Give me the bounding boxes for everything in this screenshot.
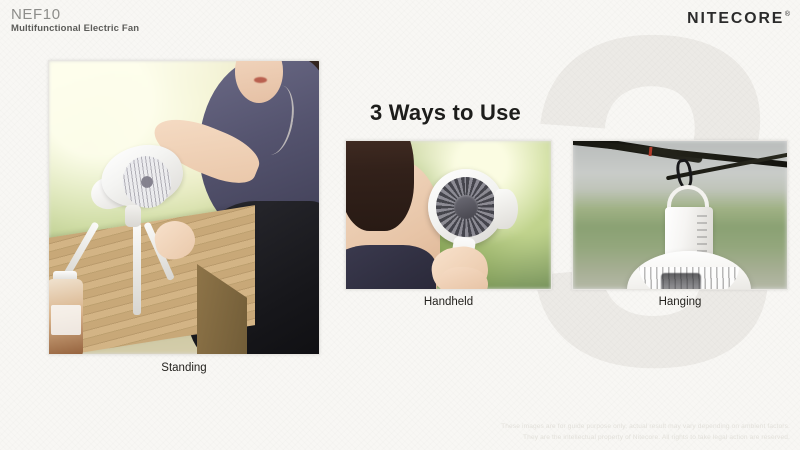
slide-header: NEF10 Multifunctional Electric Fan NITEC… [0,0,800,40]
slide-canvas: 3 NEF10 Multifunctional Electric Fan NIT… [0,0,800,450]
brand-logo-wordmark: NITECORE [687,10,784,28]
fan-hub [454,195,478,219]
photo-hanging [572,140,788,290]
caption-standing: Standing [48,362,320,374]
brand-logo: NITECORE ® [689,10,790,28]
caption-handheld: Handheld [345,296,552,308]
disclaimer-line-1: These images are for guide purpose only,… [430,422,790,433]
disclaimer-line-2: They are the intellectual property of Ni… [430,433,790,444]
fan-air-slot [661,273,701,289]
legal-disclaimer: These images are for guide purpose only,… [430,422,790,444]
bottle-label [51,305,81,335]
caption-hanging: Hanging [572,296,788,308]
product-model-name: NEF10 [11,6,61,23]
woman-top-garment [346,245,436,289]
product-subtitle: Multifunctional Electric Fan [11,23,139,34]
fan-side-housing [494,189,518,229]
tripod-leg-center [133,223,141,315]
woman-hair [346,141,414,231]
photo-hanging-scene [573,141,787,289]
photo-standing-scene [49,61,319,354]
registered-trademark-icon: ® [785,11,790,18]
fan-neck-joint [125,205,141,227]
fan-body-markings [697,215,707,253]
section-title: 3 Ways to Use [370,100,521,126]
woman-lips [254,77,267,83]
photo-standing [48,60,320,355]
photo-handheld-scene [346,141,551,289]
photo-handheld [345,140,552,290]
